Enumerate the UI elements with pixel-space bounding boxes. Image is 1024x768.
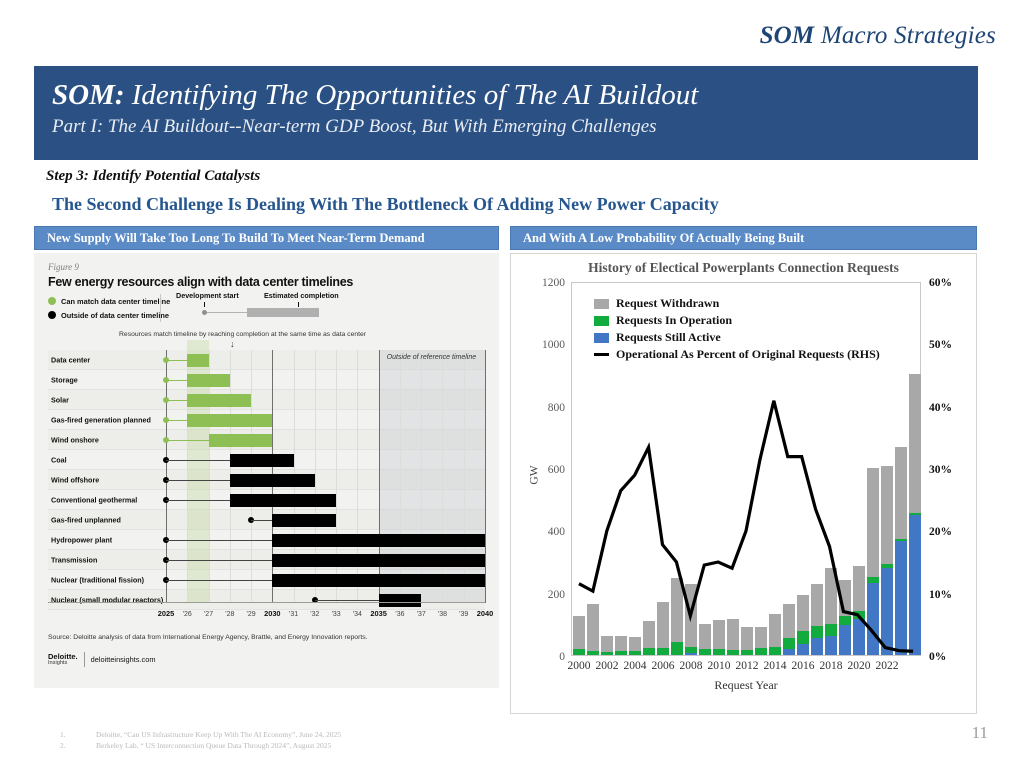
step-label: Step 3: Identify Potential Catalysts — [46, 168, 260, 185]
gantt-x-tick: '37 — [417, 611, 426, 618]
chart-y-tick-right: 20% — [929, 526, 952, 538]
gantt-connector-line — [166, 560, 272, 561]
figure-title: Few energy resources align with data cen… — [48, 275, 353, 289]
right-chart-panel: History of Electical Powerplants Connect… — [510, 253, 977, 714]
gantt-row-label: Wind onshore — [51, 435, 99, 444]
scale-end-tick — [298, 302, 299, 307]
chart-y-tick-right: 10% — [929, 589, 952, 601]
gantt-bar — [272, 514, 336, 527]
footnote-number: 2. — [60, 741, 96, 752]
scale-end-label: Estimated completion — [264, 291, 339, 300]
footnote-text: Deloitte, “Can US Infrastructure Keep Up… — [96, 730, 341, 741]
chart-y-tick-left: 600 — [548, 464, 565, 476]
scale-start-label: Development start — [176, 291, 239, 300]
gantt-row-label: Solar — [51, 395, 69, 404]
gantt-x-tick: '39 — [459, 611, 468, 618]
gantt-bar — [230, 454, 294, 467]
gantt-row-label: Conventional geothermal — [51, 495, 137, 504]
footnotes: 1. Deloitte, “Can US Infrastructure Keep… — [60, 730, 341, 752]
gantt-bar — [272, 574, 485, 587]
gantt-x-tick: '29 — [247, 611, 256, 618]
scale-bar — [247, 308, 319, 317]
page-number: 11 — [972, 723, 988, 743]
gantt-x-tick: 2030 — [264, 609, 280, 618]
chart-x-tick: 2008 — [680, 660, 703, 672]
brand-rest: Macro Strategies — [814, 22, 996, 49]
legend-label: Can match data center timeline — [61, 297, 170, 306]
operational-percent-line — [579, 401, 913, 651]
page-subtitle: Part I: The AI Buildout--Near-term GDP B… — [52, 116, 978, 138]
gantt-connector-line — [166, 460, 230, 461]
left-chart-panel: Figure 9 Few energy resources align with… — [34, 253, 499, 688]
figure-source: Source: Deloitte analysis of data from I… — [48, 634, 368, 641]
chart-plot-area: Request Withdrawn Requests In Operation … — [571, 282, 921, 656]
gantt-row-label: Transmission — [51, 555, 97, 564]
gantt-x-tick: 2040 — [477, 609, 493, 618]
footnote-row: 1. Deloitte, “Can US Infrastructure Keep… — [60, 730, 341, 741]
gantt-gridline — [187, 350, 188, 603]
gantt-bar — [187, 354, 208, 367]
scale-connector — [207, 312, 247, 313]
legend-item: Outside of data center timeline — [48, 308, 170, 322]
chart-x-tick: 2012 — [736, 660, 759, 672]
chart-y-tick-left: 800 — [548, 402, 565, 414]
legend-divider — [160, 294, 161, 322]
chart-y-tick-right: 40% — [929, 402, 952, 414]
gantt-annotation-arrow-icon: ↓ — [230, 340, 235, 349]
gantt-x-tick: '31 — [289, 611, 298, 618]
chart-x-tick: 2014 — [764, 660, 787, 672]
gantt-row-label: Wind offshore — [51, 475, 99, 484]
gantt-row-label: Data center — [51, 355, 90, 364]
gantt-row-label: Hydropower plant — [51, 535, 112, 544]
chart-x-tick: 2020 — [848, 660, 871, 672]
chart-x-tick: 2016 — [792, 660, 815, 672]
legend-dot-icon — [48, 297, 56, 305]
gantt-x-tick: '34 — [353, 611, 362, 618]
chart-y-tick-right: 30% — [929, 464, 952, 476]
gantt-bar — [230, 494, 336, 507]
chart-y-axis-label: GW — [529, 465, 541, 484]
gantt-connector-line — [166, 360, 187, 361]
left-panel-header: New Supply Will Take Too Long To Build T… — [34, 226, 499, 250]
gantt-x-tick: '32 — [310, 611, 319, 618]
scale-start-tick — [204, 302, 205, 307]
gantt-connector-line — [166, 420, 187, 421]
gantt-legend: Can match data center timeline Outside o… — [48, 294, 170, 322]
gantt-x-tick: 2025 — [158, 609, 174, 618]
gantt-chart: Data centerStorageSolarGas-fired generat… — [48, 350, 485, 622]
gantt-gridline — [485, 350, 486, 603]
gantt-gridline — [209, 350, 210, 603]
legend-dot-icon — [48, 311, 56, 319]
gantt-x-tick: '28 — [225, 611, 234, 618]
page-title: SOM: Identifying The Opportunities of Th… — [52, 78, 978, 113]
gantt-connector-line — [166, 440, 209, 441]
gantt-x-tick: '36 — [395, 611, 404, 618]
page-title-main: Identifying The Opportunities of The AI … — [125, 79, 699, 111]
figure-number: Figure 9 — [48, 262, 79, 272]
chart-x-tick: 2000 — [568, 660, 591, 672]
chart-x-tick: 2004 — [624, 660, 647, 672]
gantt-x-tick: '27 — [204, 611, 213, 618]
chart-y-tick-left: 1200 — [542, 277, 565, 289]
gantt-bar — [187, 394, 251, 407]
legend-item: Can match data center timeline — [48, 294, 170, 308]
chart-line-series — [572, 283, 920, 655]
gantt-connector-line — [166, 500, 230, 501]
title-banner: SOM: Identifying The Opportunities of Th… — [34, 66, 978, 160]
chart-x-axis-label: Request Year — [571, 678, 921, 693]
gantt-bar — [272, 534, 485, 547]
gantt-connector-line — [166, 580, 272, 581]
gantt-bar — [379, 594, 422, 607]
deloitte-logo: Deloitte. Insights deloitteinsights.com — [48, 652, 156, 667]
gantt-annotation: Resources match timeline by reaching com… — [119, 331, 366, 338]
gantt-x-axis — [48, 602, 485, 603]
chart-title: History of Electical Powerplants Connect… — [511, 260, 976, 276]
chart-x-tick: 2006 — [652, 660, 675, 672]
gantt-row-label: Gas-fired unplanned — [51, 515, 121, 524]
section-subhead: The Second Challenge Is Dealing With The… — [52, 194, 719, 215]
logo-subname: Insights — [48, 661, 78, 667]
footnote-number: 1. — [60, 730, 96, 741]
chart-y-tick-right: 60% — [929, 277, 952, 289]
chart-x-tick: 2018 — [820, 660, 843, 672]
logo-url: deloitteinsights.com — [91, 655, 156, 664]
chart-x-tick: 2002 — [596, 660, 619, 672]
gantt-row-label: Storage — [51, 375, 78, 384]
gantt-x-tick: '26 — [183, 611, 192, 618]
gantt-connector-line — [251, 520, 272, 521]
legend-label: Outside of data center timeline — [61, 311, 169, 320]
gantt-bar — [230, 474, 315, 487]
brand-bold: SOM — [760, 22, 815, 49]
gantt-connector-line — [315, 600, 379, 601]
gantt-bar — [187, 374, 230, 387]
gantt-x-tick: '33 — [332, 611, 341, 618]
gantt-bar — [209, 434, 273, 447]
chart-x-tick: 2010 — [708, 660, 731, 672]
gantt-row-label: Gas-fired generation planned — [51, 415, 151, 424]
gantt-row-label: Nuclear (traditional fission) — [51, 575, 144, 584]
gantt-connector-line — [166, 540, 272, 541]
right-panel-header: And With A Low Probability Of Actually B… — [510, 226, 977, 250]
gantt-bar — [272, 554, 485, 567]
chart-y-tick-right: 0% — [929, 651, 946, 663]
gantt-x-tick: '38 — [438, 611, 447, 618]
chart-y-tick-left: 400 — [548, 526, 565, 538]
chart-x-tick: 2022 — [876, 660, 899, 672]
outside-reference-label: Outside of reference timeline — [387, 354, 477, 361]
chart-y-tick-left: 200 — [548, 589, 565, 601]
gantt-connector-line — [166, 400, 187, 401]
footnote-row: 2. Berkeley Lab, “ US Interconnection Qu… — [60, 741, 341, 752]
gantt-bar — [187, 414, 272, 427]
footnote-text: Berkeley Lab, “ US Interconnection Queue… — [96, 741, 331, 752]
gantt-connector-line — [166, 480, 230, 481]
logo-divider — [84, 652, 85, 667]
gantt-connector-line — [166, 380, 187, 381]
chart-y-tick-right: 50% — [929, 339, 952, 351]
chart-y-tick-left: 1000 — [542, 339, 565, 351]
gantt-row-label: Coal — [51, 455, 67, 464]
brand-title: SOM Macro Strategies — [760, 22, 996, 50]
page-title-prefix: SOM: — [52, 79, 125, 111]
chart-y-tick-left: 0 — [559, 651, 565, 663]
gantt-x-tick: 2035 — [370, 609, 386, 618]
